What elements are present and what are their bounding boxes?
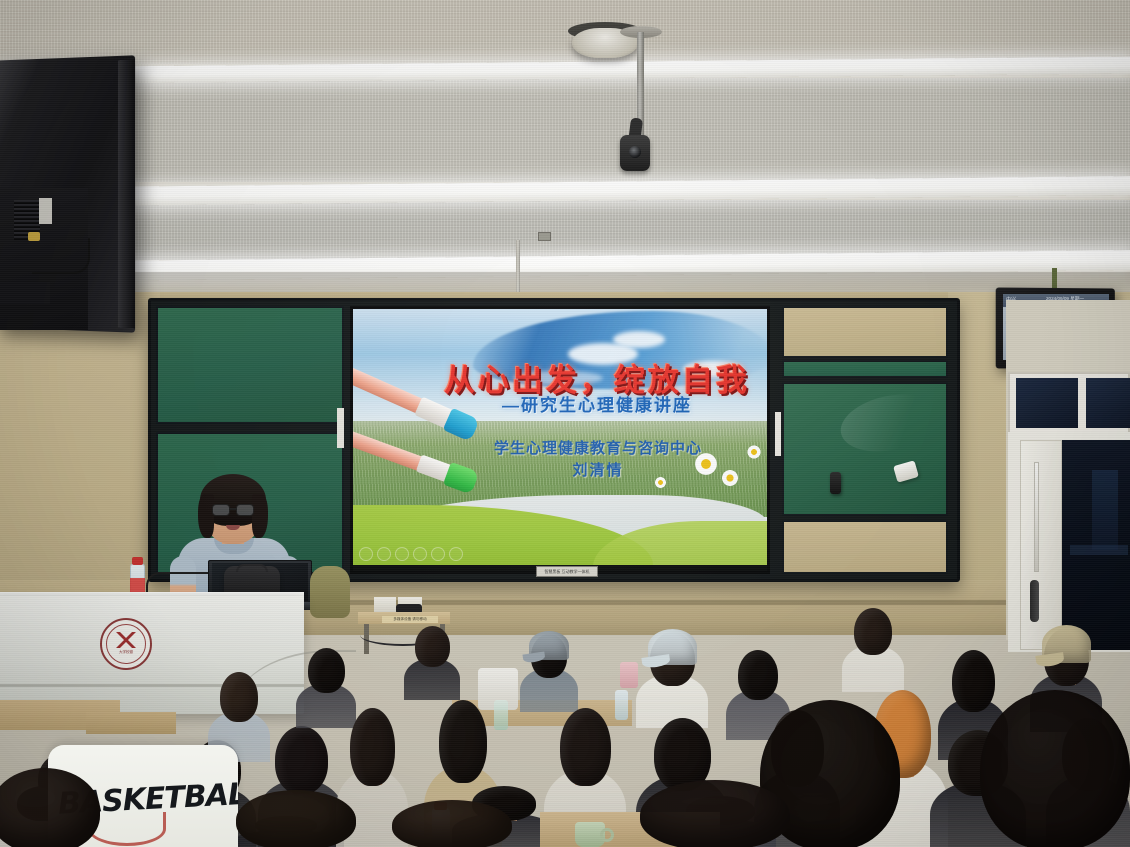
asset-tag-sticker-left	[337, 408, 344, 448]
audience-head-foreground	[640, 780, 790, 847]
water-bottle-cap	[132, 557, 143, 565]
door-vision-slot	[1034, 462, 1039, 572]
back-icon[interactable]	[359, 547, 373, 561]
audience-head-foreground	[980, 690, 1130, 847]
audience-head	[560, 708, 611, 786]
select-icon[interactable]	[431, 547, 445, 561]
door-transom-glass-left	[1016, 378, 1078, 428]
presenter-hair-left	[198, 494, 214, 538]
lecture-hall-photo: 从心出发，绽放自我 —研究生心理健康讲座 学生心理健康教育与咨询中心 刘清情 智…	[0, 0, 1130, 847]
ceiling-panel-front	[0, 0, 1130, 64]
camera-lens-icon	[629, 146, 641, 158]
door-transom-glass-right	[1086, 378, 1130, 428]
audience-head	[415, 626, 450, 667]
chalkboard-left-top[interactable]	[156, 306, 344, 424]
audience-head	[275, 726, 328, 794]
audience-person	[520, 634, 578, 712]
pen-icon[interactable]	[395, 547, 409, 561]
audience-head	[854, 608, 892, 655]
smoke-detector-icon	[538, 232, 551, 241]
asset-tag-sticker-right	[775, 412, 781, 456]
chalkboard-right-strip	[782, 360, 948, 378]
slide-organization: 学生心理健康教育与咨询中心	[433, 437, 763, 458]
slide-presenter-name: 刘清情	[433, 459, 763, 480]
screen-bezel-label: 智慧黑板 互动教学一体机	[536, 566, 598, 577]
hdmi-plug-icon	[28, 232, 40, 241]
menu-icon[interactable]	[449, 547, 463, 561]
audience-person	[636, 632, 708, 728]
wall-monitor-cable	[32, 238, 90, 274]
blackboard-eraser-icon[interactable]	[830, 472, 841, 494]
glasses-icon-bridge	[230, 508, 237, 510]
audience-person	[404, 626, 460, 700]
corridor-shape-1	[1092, 470, 1118, 550]
glasses-icon-right-lens	[236, 504, 254, 516]
presenter-hair-right	[252, 494, 268, 538]
home-icon[interactable]	[377, 547, 391, 561]
eraser-icon[interactable]	[413, 547, 427, 561]
slide-cloud-2	[613, 331, 665, 348]
audience-head	[308, 648, 345, 693]
slide-subtitle: —研究生心理健康讲座	[427, 391, 767, 416]
audience-head	[952, 650, 995, 712]
shoulder-bag-strap	[236, 564, 268, 572]
ceiling-panel-mid	[0, 78, 1130, 182]
green-mug-handle	[600, 828, 614, 842]
clock-mount-stem	[1052, 268, 1057, 290]
wall-monitor-edge	[118, 60, 135, 329]
wall-monitor-mount	[0, 282, 50, 304]
presentation-slide[interactable]: 从心出发，绽放自我 —研究生心理健康讲座 学生心理健康教育与咨询中心 刘清情	[353, 309, 767, 565]
audience-head	[220, 672, 258, 722]
audience-head	[738, 650, 778, 700]
audience-head	[439, 700, 487, 783]
wall-monitor-label	[39, 198, 52, 224]
audience-person	[842, 608, 904, 692]
audience-head-foreground	[392, 800, 512, 847]
glasses-icon-left-lens	[212, 504, 230, 516]
projector-support-pole	[516, 240, 520, 300]
audience-head-foreground	[236, 790, 356, 847]
whiteboard-toolbar[interactable]	[359, 547, 471, 562]
corridor-shape-2	[1070, 545, 1128, 555]
audience-head	[350, 708, 395, 786]
wall-panel-right-top	[782, 306, 948, 358]
wall-panel-right-bottom	[782, 520, 948, 574]
